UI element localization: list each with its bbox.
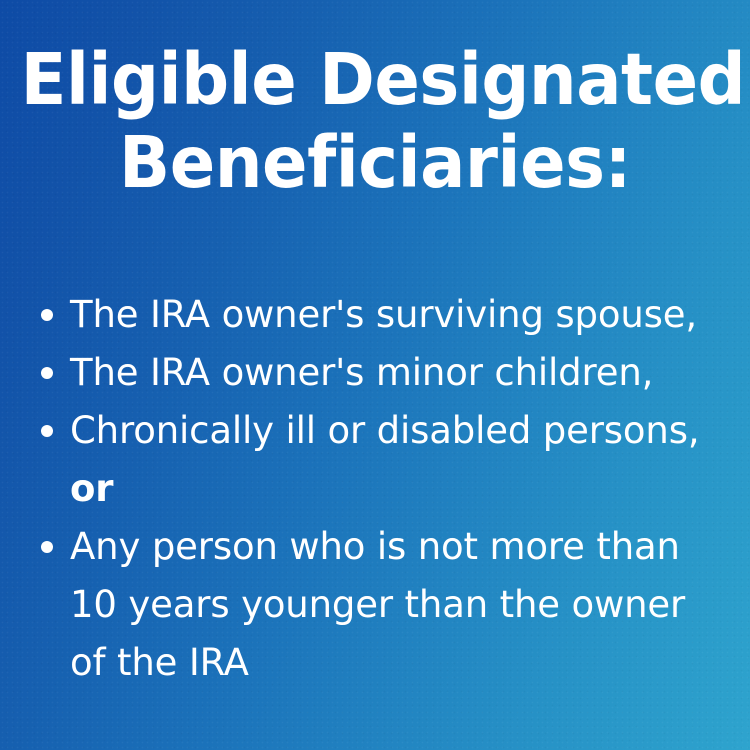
list-item-text: Any person who is not more than 10 years… [70,518,730,692]
slide-content: Eligible Designated Beneficiaries: The I… [0,0,750,750]
list-item: Any person who is not more than 10 years… [30,518,730,692]
bullet-dot-icon [41,367,53,379]
list-item-text-bold: or [70,467,113,510]
bullet-dot-icon [41,309,53,321]
title-line-1: Eligible Designated [21,38,730,121]
bullet-dot-icon [41,541,53,553]
list-item-text: Chronically ill or disabled persons, or [70,402,730,518]
slide-title: Eligible Designated Beneficiaries: [0,38,750,204]
list-item: The IRA owner's minor children, [30,344,730,402]
slide-canvas: Eligible Designated Beneficiaries: The I… [0,0,750,750]
list-item-text-plain: Chronically ill or disabled persons, [70,409,699,452]
beneficiary-list: The IRA owner's surviving spouse, The IR… [30,286,730,692]
list-item-text: The IRA owner's minor children, [70,344,730,402]
title-line-2: Beneficiaries: [21,121,730,204]
list-item: Chronically ill or disabled persons, or [30,402,730,518]
list-item-text: The IRA owner's surviving spouse, [70,286,730,344]
list-item: The IRA owner's surviving spouse, [30,286,730,344]
bullet-dot-icon [41,425,53,437]
